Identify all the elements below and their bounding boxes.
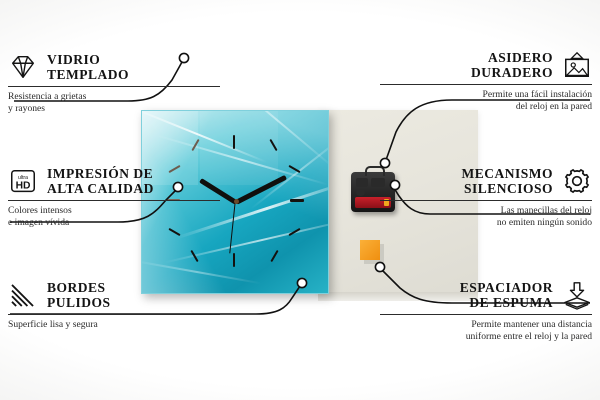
feature-bordes-pulidos: BORDES PULIDOS Superficie lisa y segura xyxy=(8,280,220,331)
hour-marker-8 xyxy=(168,228,180,236)
feature-desc: del reloj en la pared xyxy=(380,101,592,113)
feature-desc: Las manecillas del reloj xyxy=(380,205,592,217)
feature-title: DURADERO xyxy=(471,65,553,80)
hour-marker-3 xyxy=(290,199,304,202)
feature-title: ALTA CALIDAD xyxy=(47,181,154,196)
hour-marker-6 xyxy=(233,253,235,267)
feature-title: BORDES xyxy=(47,280,111,295)
mechanism-detail xyxy=(356,189,365,196)
feature-desc: Superficie lisa y segura xyxy=(8,319,220,331)
feature-desc: e imagen vívida xyxy=(8,217,220,229)
feature-impresion-alta-calidad: ultra HD IMPRESIÓN DE ALTA CALIDAD Color… xyxy=(8,166,220,228)
divider xyxy=(8,200,220,201)
divider xyxy=(380,314,592,315)
picture-frame-hanger-icon xyxy=(562,50,592,80)
feature-title: ESPACIADOR xyxy=(460,280,553,295)
infographic-canvas: VIDRIO TEMPLADO Resistencia a grietas y … xyxy=(0,0,600,400)
hour-marker-5 xyxy=(270,250,278,262)
feature-mecanismo-silencioso: MECANISMO SILENCIOSO Las manecillas del … xyxy=(380,166,592,228)
feature-desc: Resistencia a grietas xyxy=(8,91,220,103)
feature-desc: Colores intensos xyxy=(8,205,220,217)
feature-title: VIDRIO xyxy=(47,52,129,67)
foam-spacer xyxy=(360,240,380,260)
feature-title: ASIDERO xyxy=(471,50,553,65)
hour-marker-12 xyxy=(233,135,235,149)
clock-pivot xyxy=(234,199,239,204)
divider xyxy=(380,84,592,85)
feature-asidero-duradero: ASIDERO DURADERO Permite una fácil insta… xyxy=(380,50,592,112)
feature-title: TEMPLADO xyxy=(47,67,129,82)
diamond-icon xyxy=(8,52,38,82)
feature-title: PULIDOS xyxy=(47,295,111,310)
arrow-down-foam-icon xyxy=(562,280,592,310)
feature-desc: uniforme entre el reloj y la pared xyxy=(380,331,592,343)
svg-text:HD: HD xyxy=(16,181,31,192)
feature-desc: Permite mantener una distancia xyxy=(380,319,592,331)
feature-title: DE ESPUMA xyxy=(460,295,553,310)
feature-desc: y rayones xyxy=(8,103,220,115)
feature-espaciador-espuma: ESPACIADOR DE ESPUMA Permite mantener un… xyxy=(380,280,592,342)
feature-title: MECANISMO xyxy=(462,166,554,181)
feature-desc: no emiten ningún sonido xyxy=(380,217,592,229)
feature-desc: Permite una fácil instalación xyxy=(380,89,592,101)
divider xyxy=(8,86,220,87)
ultra-hd-badge-icon: ultra HD xyxy=(8,166,38,196)
divider xyxy=(380,200,592,201)
mechanism-detail xyxy=(356,178,368,187)
feature-title: IMPRESIÓN DE xyxy=(47,166,154,181)
divider xyxy=(8,314,220,315)
gear-icon xyxy=(562,166,592,196)
feature-vidrio-templado: VIDRIO TEMPLADO Resistencia a grietas y … xyxy=(8,52,220,114)
feature-title: SILENCIOSO xyxy=(462,181,554,196)
polished-edges-icon xyxy=(8,280,38,310)
